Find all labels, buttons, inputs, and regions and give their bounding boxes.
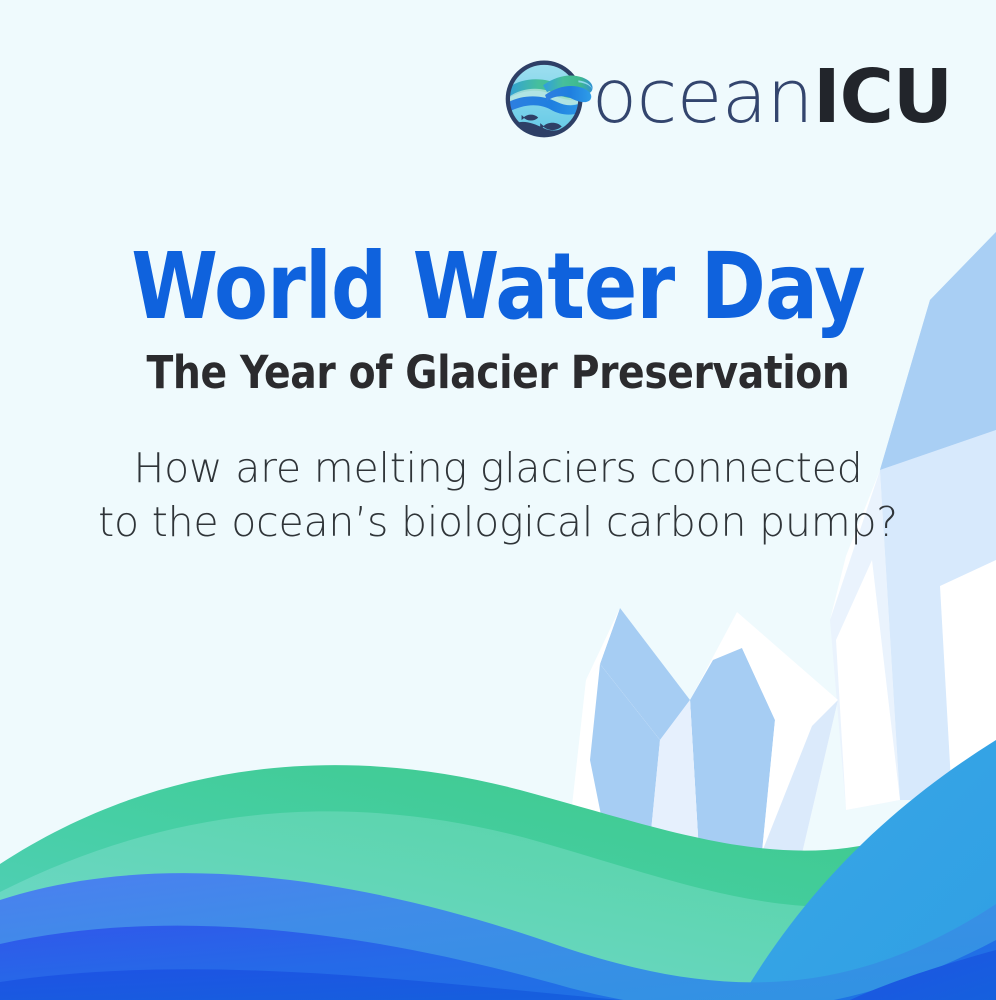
poster-text-block: World Water Day The Year of Glacier Pres… (0, 240, 996, 550)
oceanicu-logo[interactable]: oceanICU (500, 48, 952, 146)
question-line-1: How are melting glaciers connected (58, 441, 938, 495)
logo-word-ocean: ocean (592, 60, 813, 134)
question-line-2: to the ocean’s biological carbon pump? (58, 495, 938, 549)
logo-wordmark: oceanICU (592, 60, 952, 134)
question-text: How are melting glaciers connected to th… (58, 441, 938, 549)
logo-word-icu: ICU (813, 60, 952, 134)
ocean-circle-wave-fish-emblem-icon (500, 48, 598, 146)
page-subtitle: The Year of Glacier Preservation (15, 348, 981, 398)
page-title: World Water Day (25, 240, 971, 334)
poster-canvas: oceanICU World Water Day The Year of Gla… (0, 0, 996, 1000)
